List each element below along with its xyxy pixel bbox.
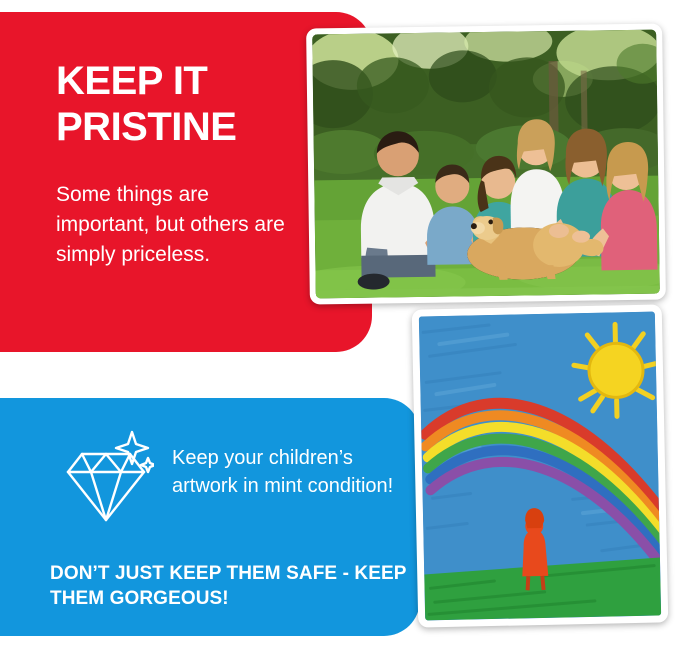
childrens-artwork-card — [412, 304, 669, 627]
family-photo-card — [306, 24, 666, 305]
blue-panel-tagline: DON’T JUST KEEP THEM SAFE - KEEP THEM GO… — [50, 561, 410, 611]
blue-panel-body-text: Keep your children’s artwork in mint con… — [172, 444, 412, 500]
family-photo-image — [312, 30, 660, 299]
childrens-artwork-image — [419, 312, 661, 621]
red-panel-body-text: Some things are important, but others ar… — [56, 180, 296, 270]
diamond-sparkle-icon — [58, 430, 154, 526]
blue-promo-panel: Keep your children’s artwork in mint con… — [0, 398, 420, 636]
